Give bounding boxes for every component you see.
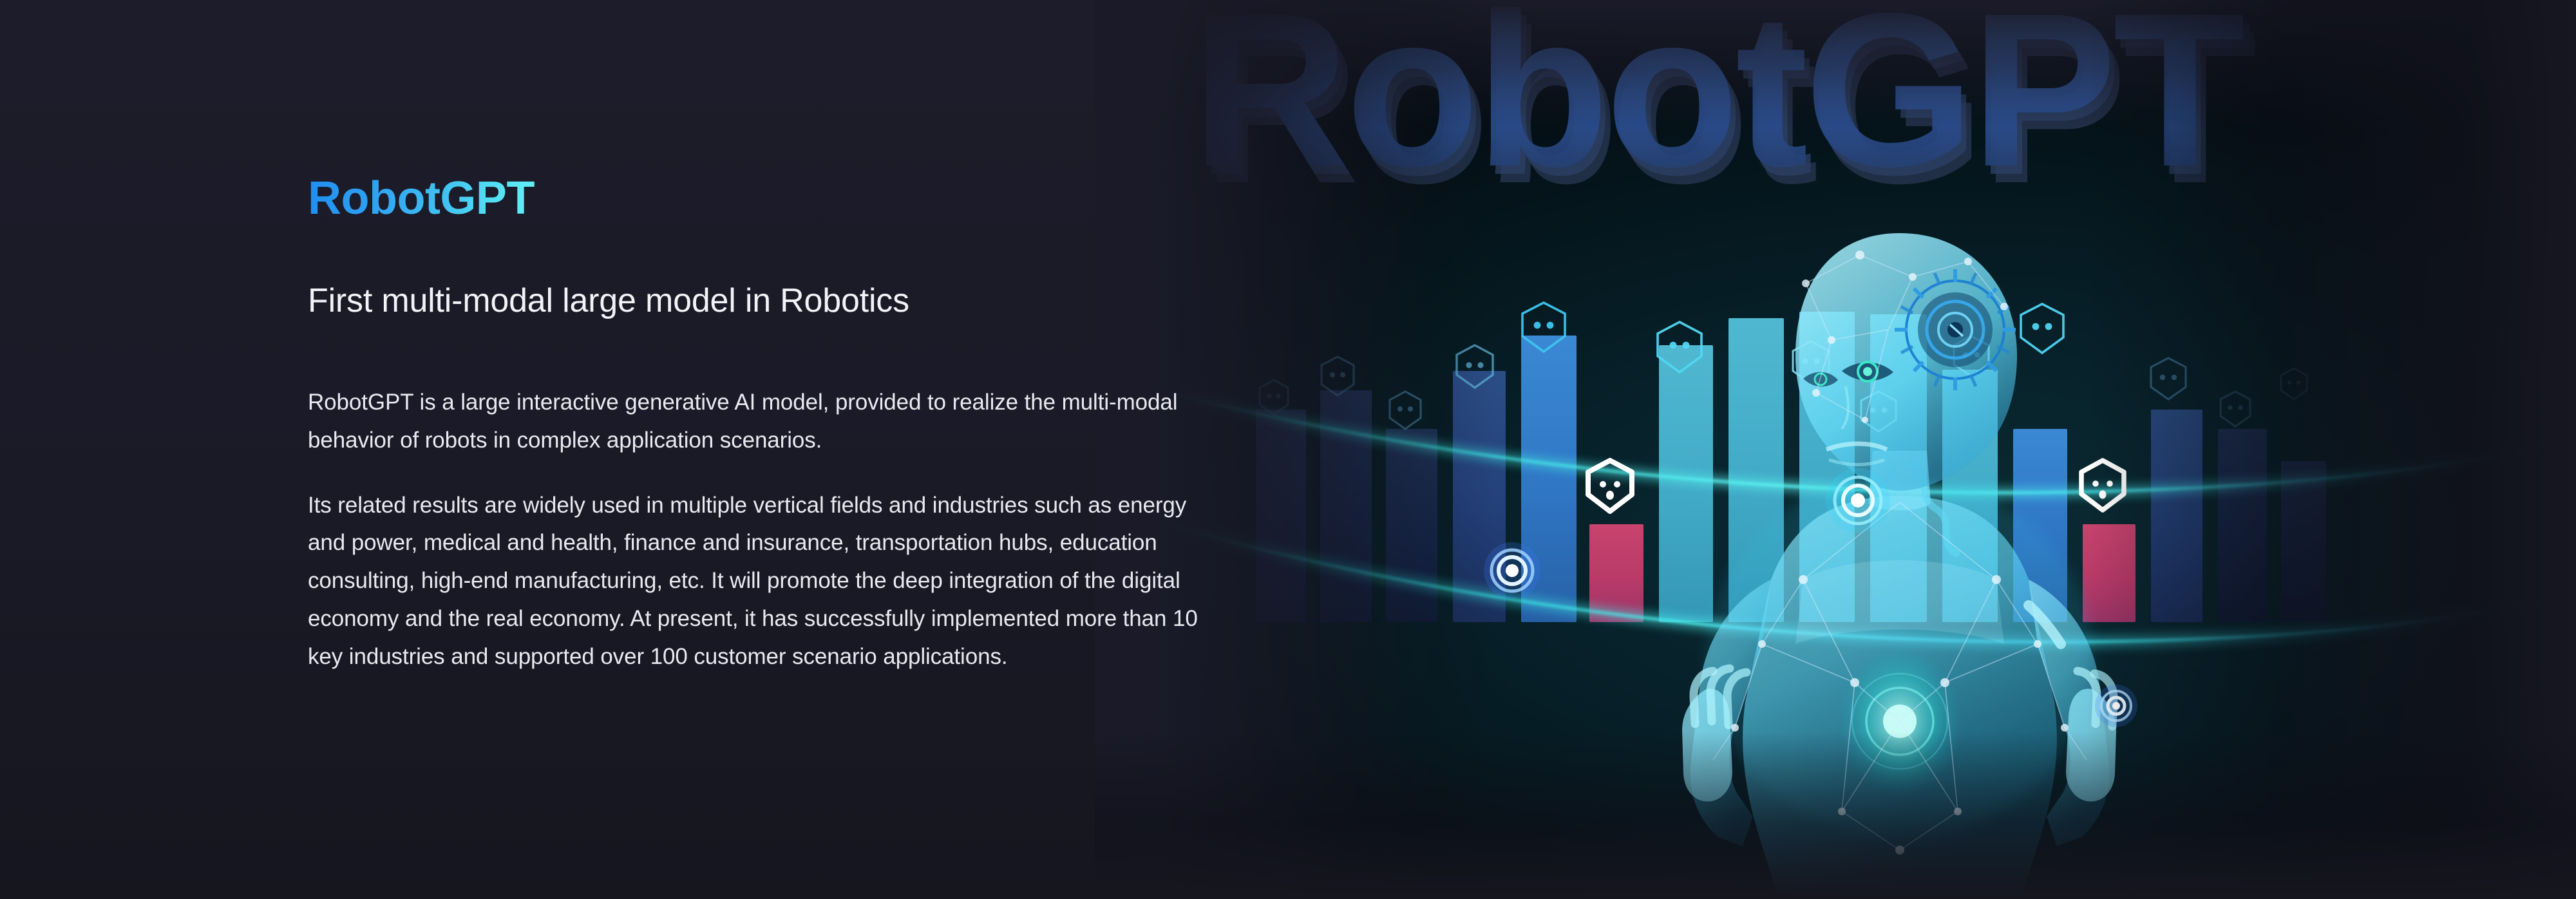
hero-copy-panel: RobotGPT First multi-modal large model i… xyxy=(0,0,1095,899)
robotgpt-hero-banner: RobotGPT RobotGPT RobotGPT xyxy=(0,0,2576,899)
page-title: RobotGPT xyxy=(308,175,535,222)
hero-paragraph-2: Its related results are widely used in m… xyxy=(308,487,1204,676)
hexagon-robot-face-icon xyxy=(1520,301,1567,353)
hero-description: RobotGPT is a large interactive generati… xyxy=(308,384,1204,676)
hero-subtitle: First multi-modal large model in Robotic… xyxy=(308,282,909,319)
hero-paragraph-1: RobotGPT is a large interactive generati… xyxy=(308,384,1204,460)
artwork-bottom-fade xyxy=(1095,732,2576,899)
hero-artwork: RobotGPT RobotGPT RobotGPT xyxy=(1095,0,2576,899)
glow-ring-node-icon xyxy=(1823,465,1893,536)
